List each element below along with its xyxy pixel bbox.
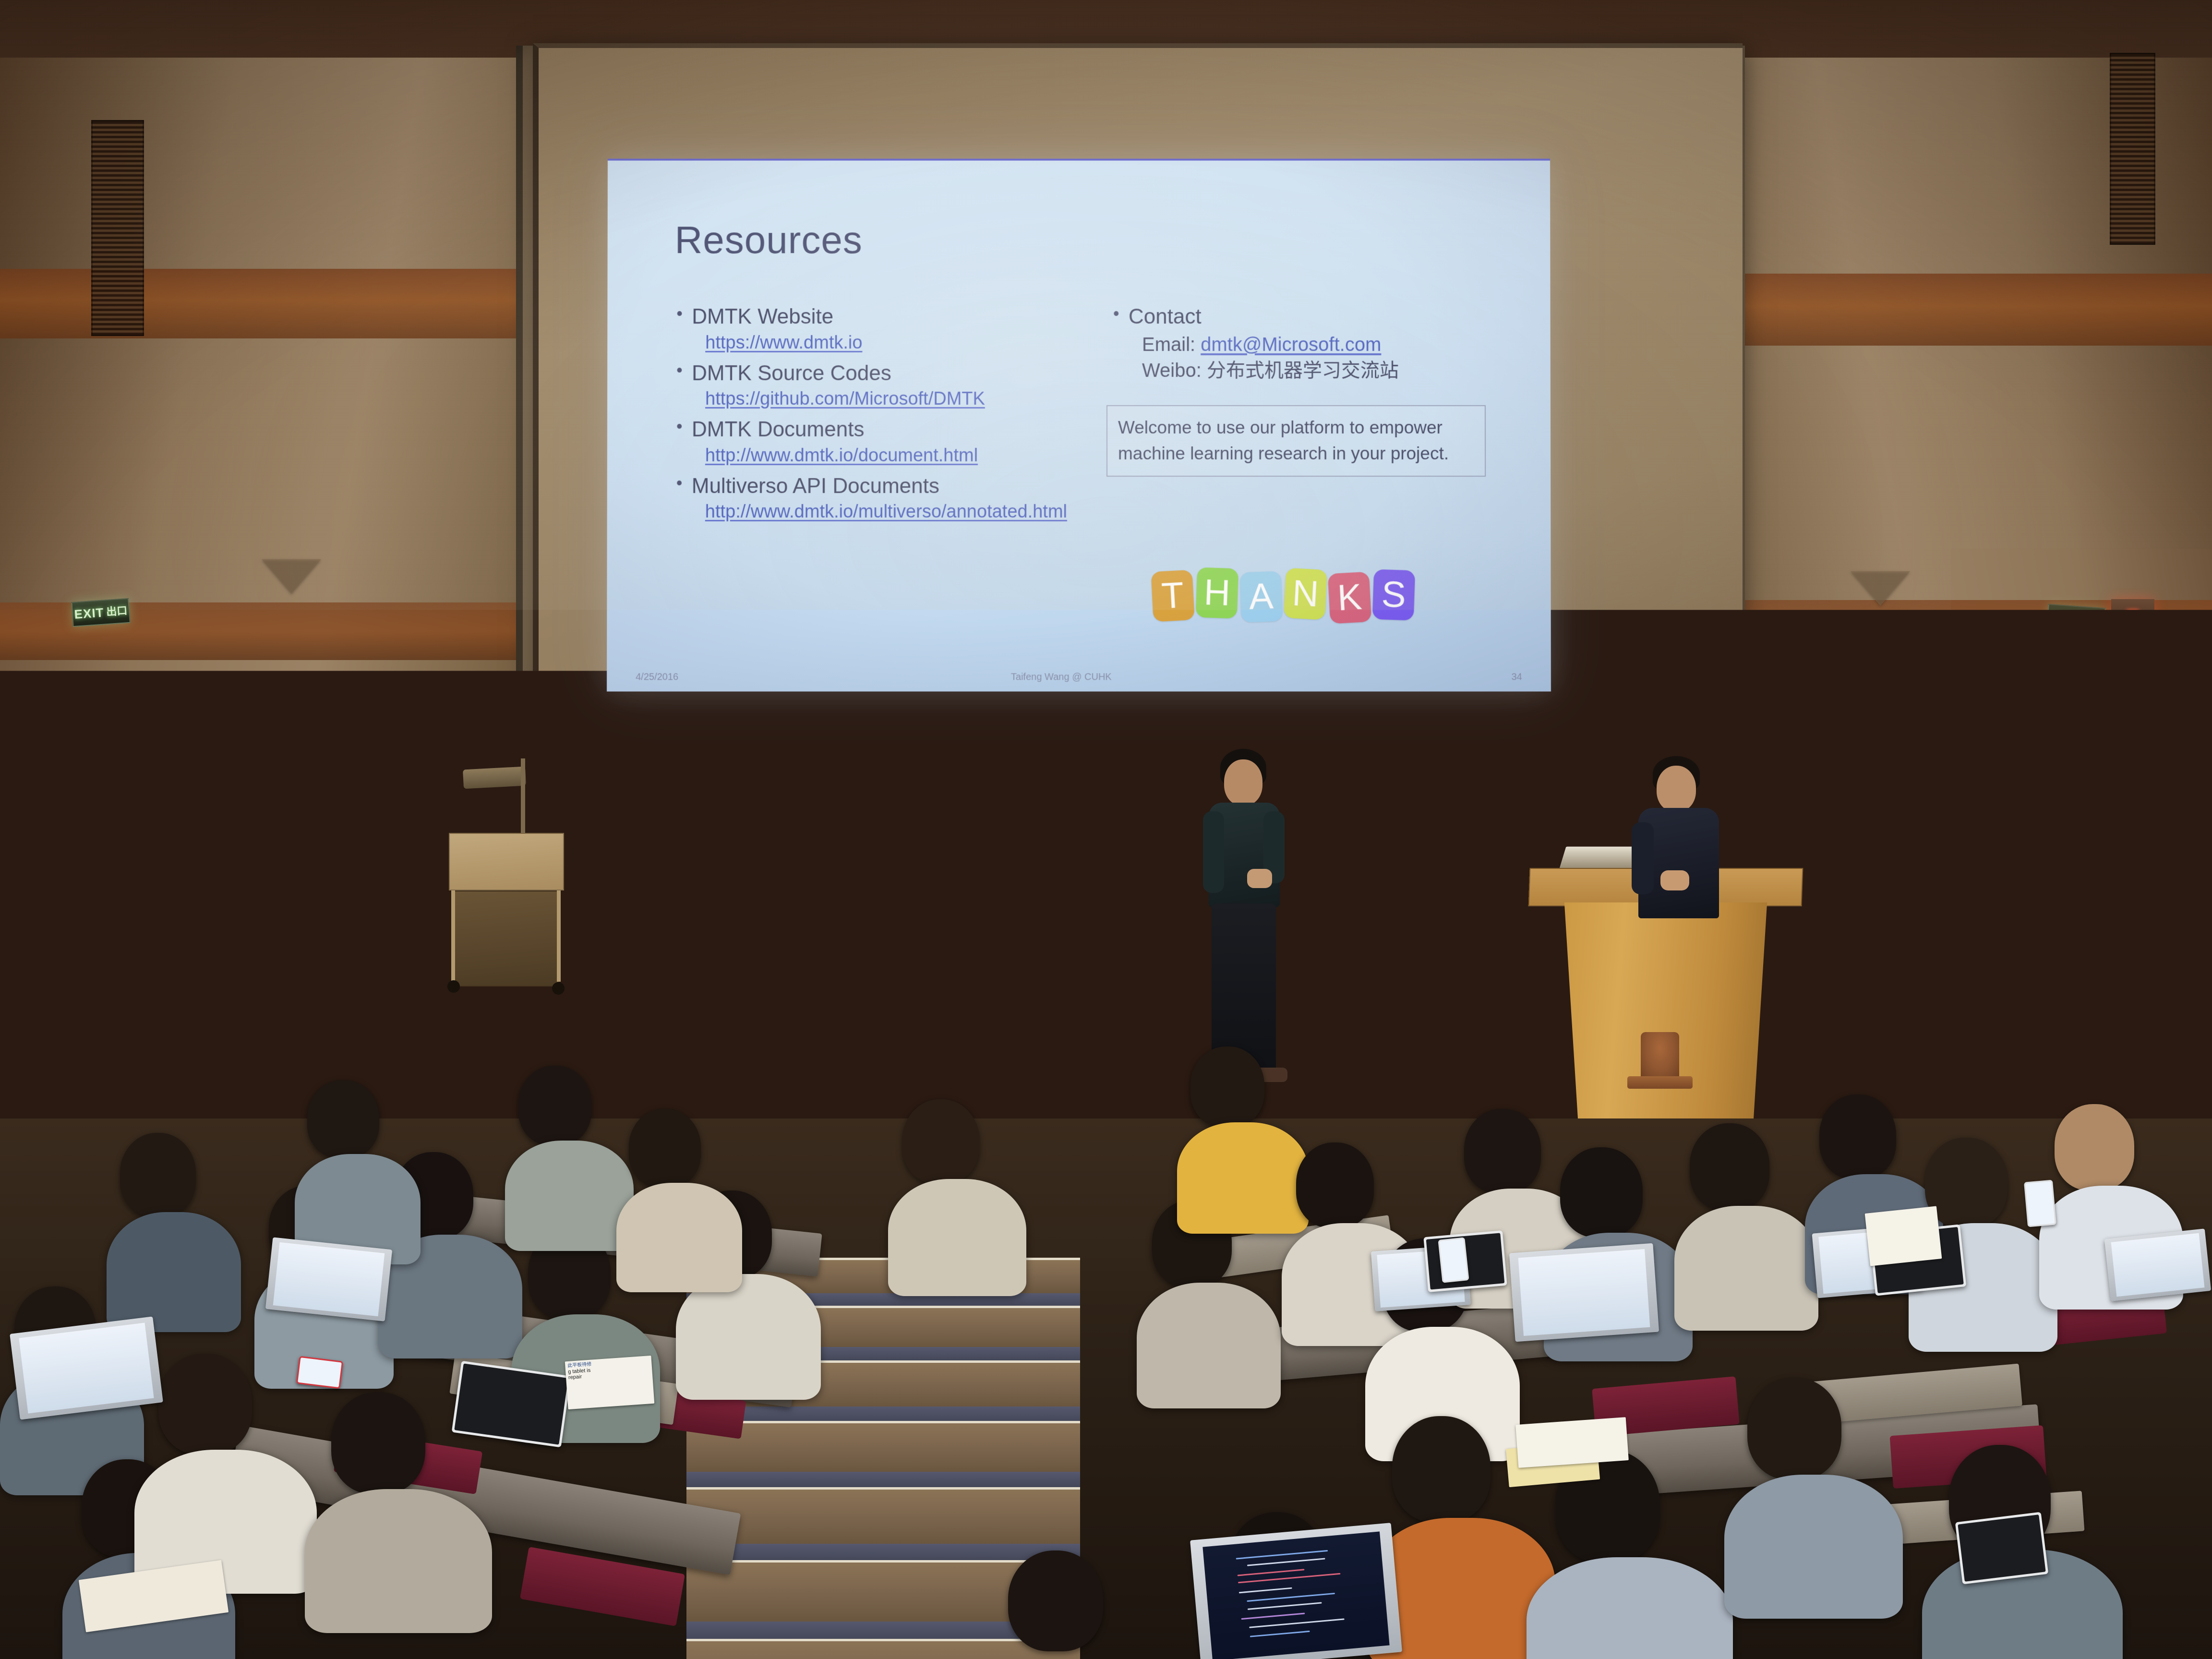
attendee-head — [1392, 1416, 1491, 1523]
presenter-hands — [1247, 869, 1272, 888]
audience-member — [1190, 1046, 1296, 1214]
attendee-head — [120, 1133, 196, 1217]
attendee-head — [1560, 1147, 1643, 1238]
thanks-letter-tile: S — [1372, 569, 1416, 621]
stair-riser — [686, 1472, 1080, 1487]
stool-post — [1469, 1019, 1477, 1115]
presenter-left-arm — [1632, 822, 1654, 894]
exit-sign-text: EXIT — [74, 606, 104, 621]
av-cart-top-drawer — [449, 833, 564, 890]
slide-note-box: Welcome to use our platform to empower m… — [1106, 405, 1486, 477]
attendee-body — [305, 1489, 492, 1633]
attendee-body — [1724, 1475, 1903, 1619]
attendee-head — [1008, 1551, 1103, 1651]
exit-sign-right: EXIT 出口 — [2046, 604, 2105, 633]
slide-right-column: Contact Email: dmtk@Microsoft.com Weibo:… — [1106, 304, 1505, 384]
av-cart-leg — [451, 890, 455, 982]
attendee-head — [331, 1392, 425, 1494]
attendee-head — [1464, 1109, 1541, 1193]
thanks-letter-tile: A — [1239, 571, 1283, 623]
tablet-screen — [454, 1363, 568, 1444]
audience-member — [158, 1354, 302, 1565]
left-wall-accent-band — [0, 269, 528, 338]
slide-title: Resources — [674, 218, 862, 262]
slide-bullet: DMTK Source Codes — [670, 361, 1102, 386]
attendee-body — [1177, 1122, 1309, 1234]
attendee-head — [307, 1080, 379, 1158]
weibo-handle: 分布式机器学习交流站 — [1207, 360, 1399, 382]
tablet-screen — [445, 1245, 515, 1298]
whiteboard-leg — [1900, 922, 1904, 1061]
audience-member — [1555, 1450, 1719, 1659]
podium-presenter — [1625, 756, 1731, 914]
attendee-body — [676, 1274, 821, 1400]
stair-riser — [686, 1407, 1080, 1421]
laptop-screen — [19, 1322, 154, 1413]
slide-link[interactable]: https://github.com/Microsoft/DMTK — [705, 389, 985, 409]
laptop-screen — [1518, 1249, 1650, 1336]
vent-grille-icon — [2110, 53, 2155, 245]
laptop-screen-code-editor — [1203, 1532, 1390, 1659]
wall-recess-panel — [662, 816, 821, 898]
tablet[interactable] — [1955, 1512, 2049, 1585]
presenter-left-arm — [1203, 811, 1224, 893]
attendee-head — [1819, 1094, 1896, 1179]
presenter-head — [1224, 759, 1262, 805]
paper-handout — [1515, 1417, 1629, 1468]
weibo-label: Weibo: — [1142, 360, 1202, 381]
laptop[interactable] — [1190, 1523, 1402, 1659]
contact-weibo-line: Weibo: 分布式机器学习交流站 — [1106, 358, 1505, 383]
overhead-projector-head-icon — [463, 767, 526, 789]
tablet-screen — [1958, 1515, 2045, 1582]
whiteboard-foot — [1881, 1061, 1922, 1066]
stair-step — [686, 1421, 1080, 1472]
email-link[interactable]: dmtk@Microsoft.com — [1201, 334, 1381, 355]
thanks-letter-tile: N — [1284, 568, 1327, 620]
lecture-hall-scene: EXIT 出口 EXIT 出口 Resources DMTK Website h… — [0, 0, 2212, 1659]
attendee-body — [1674, 1206, 1818, 1331]
tablet[interactable] — [452, 1361, 571, 1448]
attendee-head — [1925, 1138, 2008, 1228]
phone-screen — [298, 1358, 342, 1387]
phone-screen — [2025, 1181, 2055, 1226]
podium-body — [1551, 902, 1781, 1123]
attendee-head — [1296, 1142, 1374, 1228]
vent-grille-icon — [91, 120, 144, 336]
attendee-head — [2055, 1104, 2134, 1190]
exit-sign-left: EXIT 出口 — [71, 598, 130, 627]
audience-member — [1747, 1378, 1887, 1594]
phone[interactable] — [431, 1295, 461, 1341]
slide-footer: 4/25/2016 Taifeng Wang @ CUHK 34 — [607, 672, 1551, 683]
slide-link[interactable]: http://www.dmtk.io/document.html — [705, 445, 978, 466]
attendee-head — [1190, 1046, 1264, 1127]
slide-bullet-contact: Contact — [1106, 304, 1505, 329]
thanks-graphic: T H A N K S — [1152, 571, 1414, 621]
attendee-head — [158, 1354, 252, 1455]
wall-triangle-marker-icon — [262, 559, 321, 594]
slide-link[interactable]: http://www.dmtk.io/multiverso/annotated.… — [705, 502, 1067, 522]
stool-seat — [1443, 993, 1527, 1022]
phone-screen — [432, 1297, 460, 1339]
slide-footer-page: 34 — [1512, 672, 1522, 683]
slide-bullet: DMTK Documents — [670, 417, 1102, 442]
attendee-head — [1747, 1378, 1841, 1479]
presentation-slide: Resources DMTK Website https://www.dmtk.… — [607, 159, 1551, 692]
exit-light-red-icon — [2111, 599, 2154, 629]
av-cart-leg — [557, 890, 561, 982]
exit-sign-text: EXIT — [2049, 610, 2080, 625]
laptop[interactable] — [2104, 1228, 2211, 1301]
email-label: Email: — [1142, 334, 1195, 355]
attendee-head — [1690, 1123, 1769, 1211]
attendee-body — [107, 1212, 241, 1332]
slide-bullet: Multiverso API Documents — [670, 474, 1102, 499]
presenter-trousers — [1212, 903, 1276, 1070]
paper-handout — [1865, 1206, 1942, 1266]
right-wall-accent-band — [1727, 274, 2212, 346]
presenter-hands — [1660, 870, 1689, 890]
laptop[interactable] — [1509, 1243, 1659, 1342]
laptop[interactable] — [265, 1237, 392, 1321]
phone[interactable] — [1438, 1237, 1469, 1283]
audience-member — [902, 1099, 1013, 1272]
audience-member — [1690, 1123, 1805, 1310]
slide-footer-date: 4/25/2016 — [636, 672, 678, 683]
exit-sign-text-cn: 出口 — [106, 605, 128, 617]
phone[interactable] — [296, 1356, 343, 1389]
slide-left-column: DMTK Website https://www.dmtk.io DMTK So… — [670, 304, 1102, 530]
audience-member — [629, 1109, 730, 1272]
university-crest-icon — [1641, 1032, 1679, 1078]
thanks-letter-tile: T — [1151, 570, 1194, 622]
attendee-body — [1527, 1557, 1733, 1659]
presenter-head — [1657, 766, 1696, 812]
contact-email-line: Email: dmtk@Microsoft.com — [1106, 332, 1505, 357]
av-cart-wheel — [552, 982, 565, 995]
attendee-body — [505, 1141, 634, 1251]
laptop-screen — [2111, 1233, 2205, 1297]
audience-member — [120, 1133, 230, 1310]
slide-link[interactable]: https://www.dmtk.io — [705, 333, 862, 353]
thanks-letter-tile: K — [1328, 572, 1371, 624]
phone-screen — [1440, 1239, 1468, 1282]
av-cart-shelf — [454, 890, 559, 986]
overhead-projector-arm — [521, 758, 525, 835]
attendee-body — [888, 1179, 1026, 1296]
attendee-body — [616, 1183, 742, 1292]
attendee-head — [629, 1109, 701, 1188]
exit-sign-text-cn: 出口 — [2081, 613, 2103, 625]
wall-recess-panel — [1303, 816, 1419, 893]
laptop-screen — [273, 1242, 385, 1316]
thanks-letter-tile: H — [1196, 567, 1239, 619]
attendee-body — [1137, 1283, 1281, 1408]
audience-member — [307, 1080, 408, 1243]
attendee-head — [902, 1099, 979, 1184]
wall-triangle-marker-icon — [1851, 571, 1910, 606]
slide-footer-center: Taifeng Wang @ CUHK — [1011, 672, 1112, 683]
phone[interactable] — [2024, 1180, 2056, 1227]
laptop[interactable] — [10, 1316, 163, 1419]
audience-member — [518, 1066, 622, 1229]
av-cart-wheel — [447, 980, 460, 993]
audience-member — [1008, 1551, 1147, 1659]
desk-notice-card: 此平板待修 g tablet is repair — [565, 1356, 655, 1409]
stair-step — [686, 1487, 1080, 1544]
slide-bullet: DMTK Website — [670, 304, 1102, 329]
attendee-head — [518, 1066, 591, 1145]
